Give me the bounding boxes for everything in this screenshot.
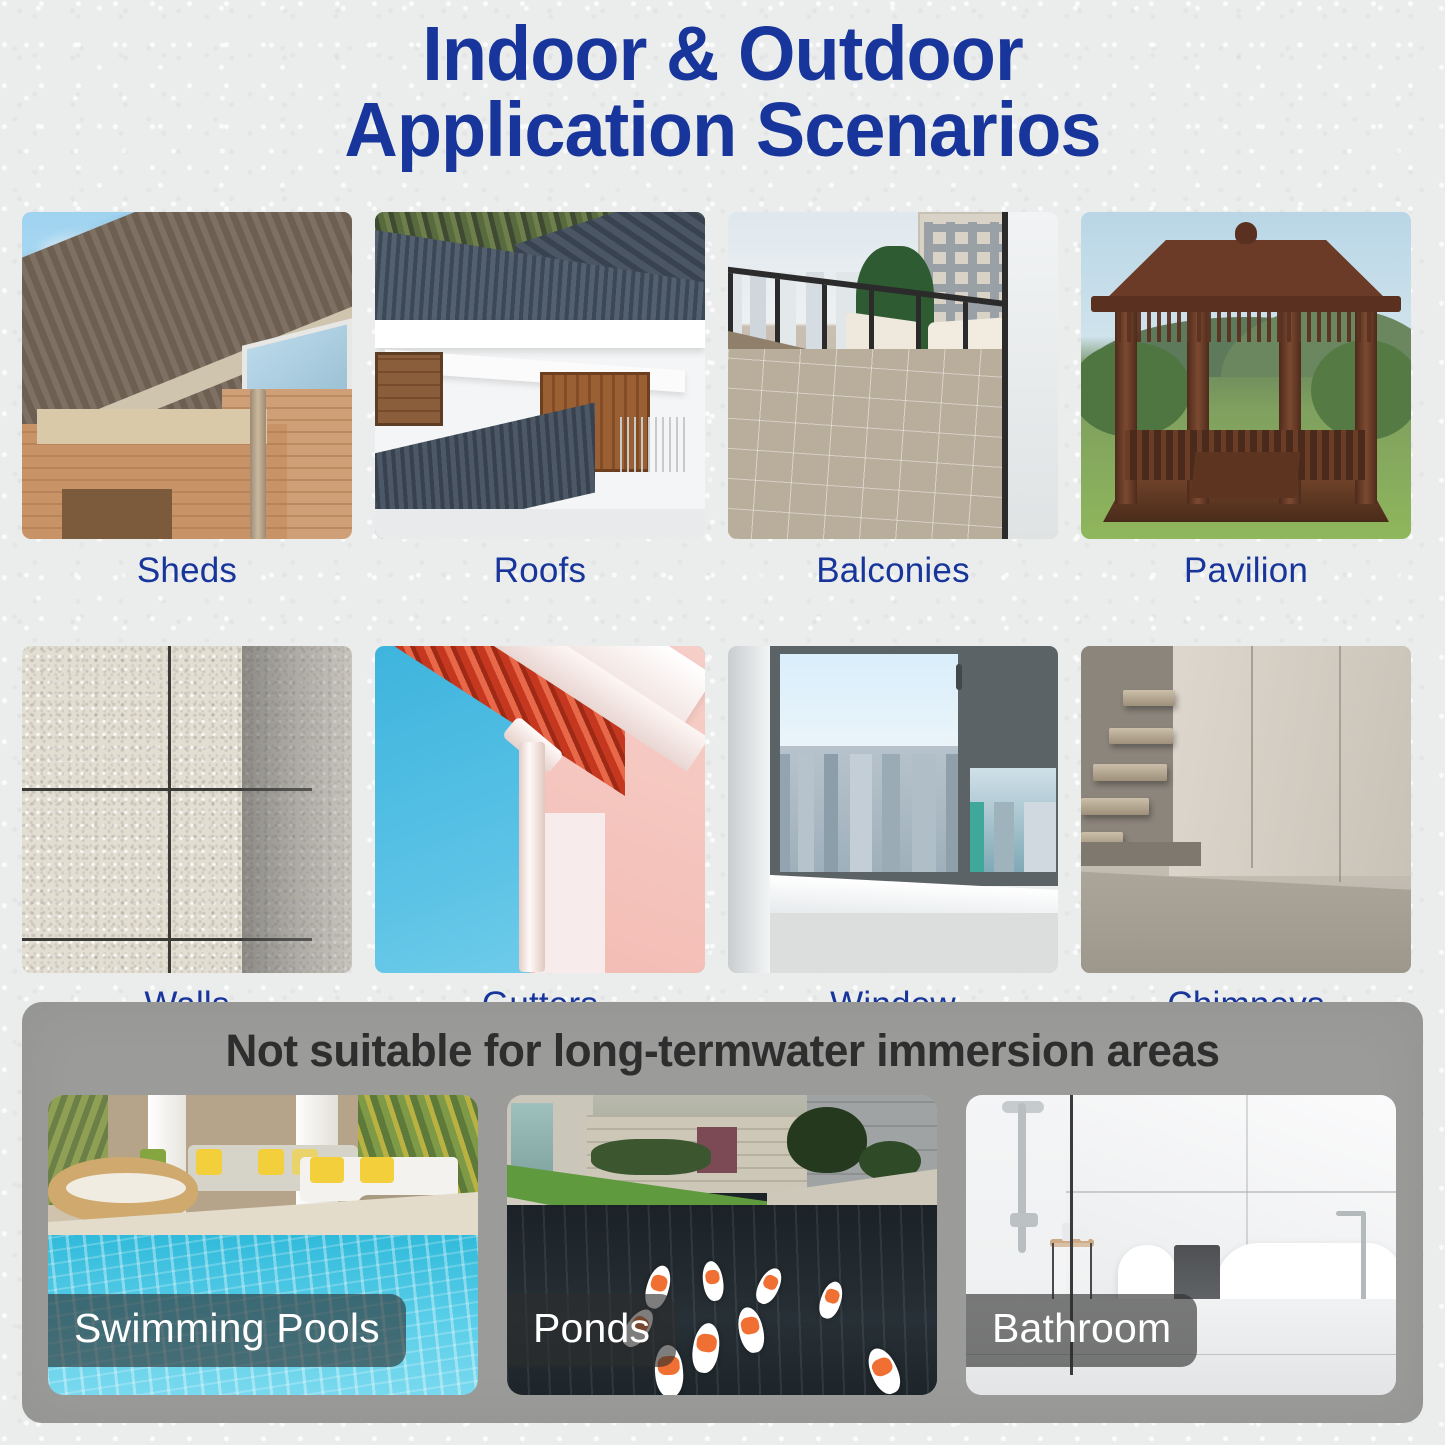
title-line-1: Indoor & Outdoor xyxy=(422,11,1023,97)
warning-banner: Not suitable for long-termwater immersio… xyxy=(22,1002,1423,1423)
walls-image xyxy=(22,646,352,973)
warning-caption-ponds: Ponds xyxy=(507,1294,676,1367)
balconies-image xyxy=(728,212,1058,539)
page-title: Indoor & Outdoor Application Scenarios xyxy=(29,0,1416,168)
scenario-label-roofs: Roofs xyxy=(375,539,705,588)
warning-card-swimming-pools[interactable]: Swimming Pools xyxy=(48,1095,478,1395)
chimneys-image xyxy=(1081,646,1411,973)
warning-card-bathroom[interactable]: Bathroom xyxy=(966,1095,1396,1395)
gutters-image xyxy=(375,646,705,973)
pavilion-image xyxy=(1081,212,1411,539)
warning-image-strip: Swimming Pools xyxy=(48,1095,1397,1395)
warning-heading: Not suitable for long-termwater immersio… xyxy=(36,1002,1409,1073)
scenario-card-gutters[interactable]: Gutters xyxy=(375,646,705,1022)
scenario-label-balconies: Balconies xyxy=(728,539,1058,588)
scenario-card-pavilion[interactable]: Pavilion xyxy=(1081,212,1411,588)
scenario-card-walls[interactable]: Walls xyxy=(22,646,352,1022)
scenario-label-pavilion: Pavilion xyxy=(1081,539,1411,588)
scenario-label-sheds: Sheds xyxy=(22,539,352,588)
warning-card-ponds[interactable]: Ponds xyxy=(507,1095,937,1395)
scenario-card-roofs[interactable]: Roofs xyxy=(375,212,705,588)
warning-caption-swimming-pools: Swimming Pools xyxy=(48,1294,406,1367)
roofs-image xyxy=(375,212,705,539)
scenario-card-window[interactable]: Window xyxy=(728,646,1058,1022)
scenario-card-chimneys[interactable]: Chimneys xyxy=(1081,646,1411,1022)
infographic-page: Indoor & Outdoor Application Scenarios S… xyxy=(0,0,1445,1445)
scenario-grid: Sheds Roofs xyxy=(22,212,1423,1022)
window-image xyxy=(728,646,1058,973)
warning-caption-bathroom: Bathroom xyxy=(966,1294,1197,1367)
title-line-2: Application Scenarios xyxy=(29,92,1416,168)
sheds-image xyxy=(22,212,352,539)
scenario-card-balconies[interactable]: Balconies xyxy=(728,212,1058,588)
scenario-card-sheds[interactable]: Sheds xyxy=(22,212,352,588)
